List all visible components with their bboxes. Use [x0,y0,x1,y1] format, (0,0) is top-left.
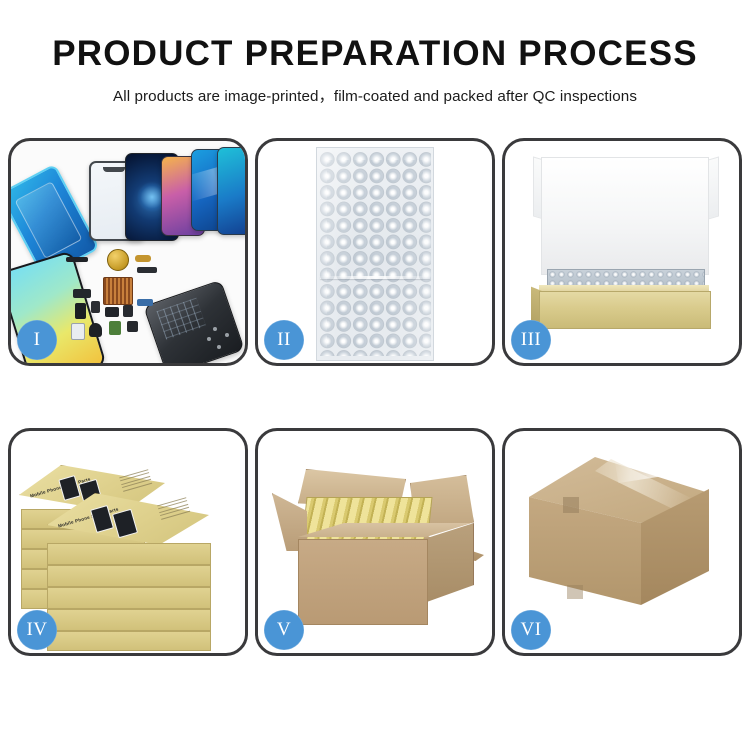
process-step-grid: I II [8,138,742,683]
screw-icon [213,327,217,331]
screw-icon [217,345,221,349]
page-title: PRODUCT PREPARATION PROCESS [0,0,750,73]
battery-part-icon [109,321,121,335]
carton-front-face [298,539,428,625]
kraft-box-front [539,291,711,329]
small-part-2-icon [91,301,100,313]
screw-icon [225,333,229,337]
camera-module-icon [73,289,91,298]
header: PRODUCT PREPARATION PROCESS All products… [0,0,750,106]
box-slab [47,565,211,587]
box-slab [47,609,211,631]
box-slab [47,587,211,609]
phone-back-housing-icon [143,280,245,363]
small-part-6-icon [127,321,138,332]
box-slab [47,543,211,565]
speaker-component-icon [107,249,129,271]
connector-gold-icon [135,255,151,262]
small-part-1-icon [75,303,86,319]
step-badge-1: I [17,320,57,360]
box-lid-open-icon [541,157,709,275]
sim-tray-icon [71,323,85,340]
ribbon-cable-icon [137,267,157,273]
step-panel-5[interactable]: V [255,428,495,656]
button-part-icon [89,323,102,337]
carton-seam-top [563,497,579,513]
carton-seam-bottom [567,585,583,599]
plastic-sheen [317,148,433,360]
step-badge-4: IV [17,610,57,650]
step-badge-6: VI [511,610,551,650]
step-panel-6[interactable]: VI [502,428,742,656]
phone-display-teal-icon [217,147,245,235]
flex-cable-icon [66,257,88,262]
small-part-5-icon [137,299,153,306]
small-part-3-icon [105,307,119,317]
product-preparation-infographic: PRODUCT PREPARATION PROCESS All products… [0,0,750,750]
step-badge-3: III [511,320,551,360]
step-badge-2: II [264,320,304,360]
step-badge-5: V [264,610,304,650]
box-slab [47,631,211,651]
screw-icon [207,337,211,341]
step-panel-4[interactable]: Mobile Phone Spare Parts Mobile Phone Sp… [8,428,248,656]
bubble-wrap-pouch-icon [316,147,434,361]
chip-component-icon [103,277,133,305]
tape-glare [613,433,723,483]
step-panel-1[interactable]: I [8,138,248,366]
page-subtitle: All products are image-printed，film-coat… [0,73,750,106]
step-panel-2[interactable]: II [255,138,495,366]
small-part-4-icon [123,305,133,317]
step-panel-3[interactable]: III [502,138,742,366]
packed-boxes-inside-carton [301,497,432,545]
